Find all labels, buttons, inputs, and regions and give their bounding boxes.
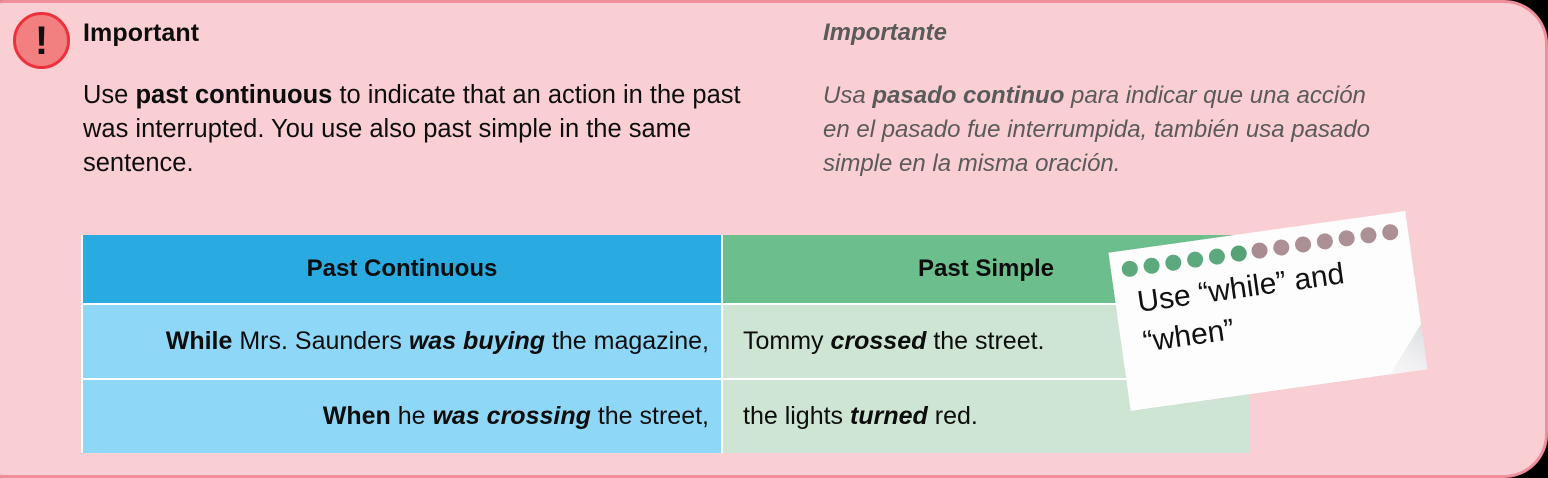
spanish-body-part1: Usa [823, 82, 872, 109]
row1-right-text2: the street. [926, 327, 1044, 355]
table-row: While Mrs. Saunders was buying the magaz… [81, 303, 1249, 378]
exclamation-glyph: ! [16, 19, 67, 63]
sticky-note-hole-2 [1142, 257, 1160, 275]
important-callout-panel: ! Important Use past continuous to indic… [0, 0, 1548, 478]
spanish-text-column: Importante Usa pasado continuo para indi… [823, 19, 1383, 181]
sticky-note-hole-9 [1294, 235, 1312, 253]
sticky-note-hole-5 [1208, 248, 1226, 266]
row2-left-italic: was crossing [432, 402, 590, 430]
row1-right-text1: Tommy [743, 327, 831, 355]
spanish-heading: Importante [823, 19, 1383, 47]
row2-right-text1: the lights [743, 402, 850, 430]
row2-right-text2: red. [928, 402, 978, 430]
row1-left-bold: While [166, 327, 233, 355]
row2-past-continuous-cell: When he was crossing the street, [81, 378, 721, 453]
sticky-note-hole-1 [1121, 260, 1139, 278]
table-header-past-continuous: Past Continuous [81, 235, 721, 303]
tenses-comparison-table: Past Continuous Past Simple While Mrs. S… [81, 235, 1249, 453]
english-body: Use past continuous to indicate that an … [83, 78, 755, 180]
english-text-column: Important Use past continuous to indicat… [83, 19, 755, 180]
table-row: When he was crossing the street, the lig… [81, 378, 1249, 453]
sticky-note-hole-12 [1359, 226, 1377, 244]
row1-left-italic: was buying [409, 327, 545, 355]
row2-left-text2: the street, [591, 402, 709, 430]
row1-left-text1: Mrs. Saunders [232, 327, 408, 355]
sticky-note-hole-10 [1316, 232, 1334, 250]
english-body-part1: Use [83, 81, 135, 109]
row2-left-text1: he [391, 402, 433, 430]
sticky-note-hole-4 [1186, 251, 1204, 269]
english-body-bold: past continuous [135, 81, 332, 109]
row1-right-italic: crossed [831, 327, 927, 355]
row2-right-italic: turned [850, 402, 928, 430]
table-header-row: Past Continuous Past Simple [81, 235, 1249, 303]
sticky-note-hole-6 [1229, 245, 1247, 263]
sticky-note-hole-8 [1273, 238, 1291, 256]
sticky-note-hole-13 [1381, 223, 1399, 241]
row1-past-continuous-cell: While Mrs. Saunders was buying the magaz… [81, 303, 721, 378]
english-heading: Important [83, 19, 755, 48]
row2-left-bold: When [323, 402, 391, 430]
spanish-body-bold: pasado continuo [872, 82, 1064, 109]
sticky-note-hole-3 [1164, 254, 1182, 272]
row1-left-text2: the magazine, [545, 327, 709, 355]
sticky-note-hole-7 [1251, 241, 1269, 259]
sticky-note-hole-11 [1338, 229, 1356, 247]
exclamation-icon: ! [13, 12, 70, 69]
spanish-body: Usa pasado continuo para indicar que una… [823, 79, 1383, 181]
